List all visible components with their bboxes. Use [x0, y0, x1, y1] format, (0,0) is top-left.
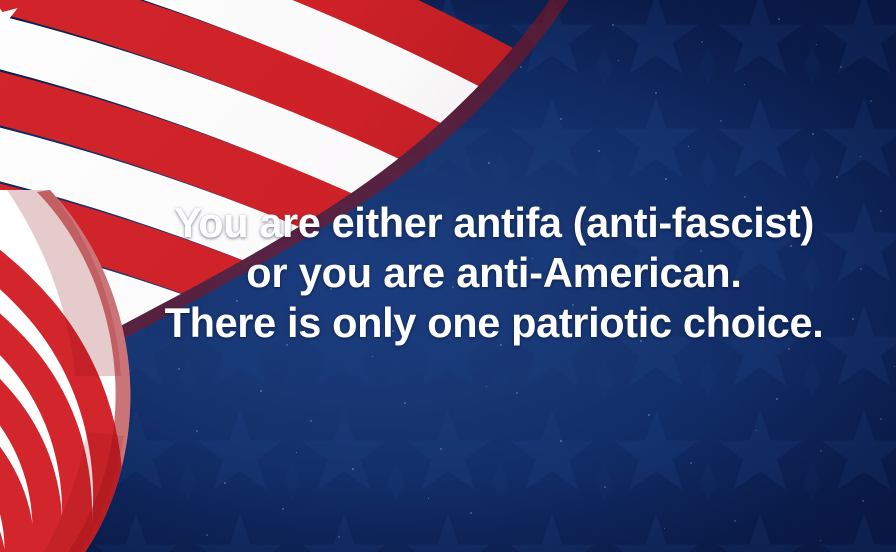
- page-headline: You are either antifa (anti-fascist) or …: [128, 198, 860, 348]
- headline-line-3: There is only one patriotic choice.: [128, 298, 860, 348]
- headline-line-1: You are either antifa (anti-fascist): [128, 198, 860, 248]
- patriotic-poster: You are either antifa (anti-fascist) or …: [0, 0, 896, 552]
- headline-line-2: or you are anti-American.: [128, 248, 860, 298]
